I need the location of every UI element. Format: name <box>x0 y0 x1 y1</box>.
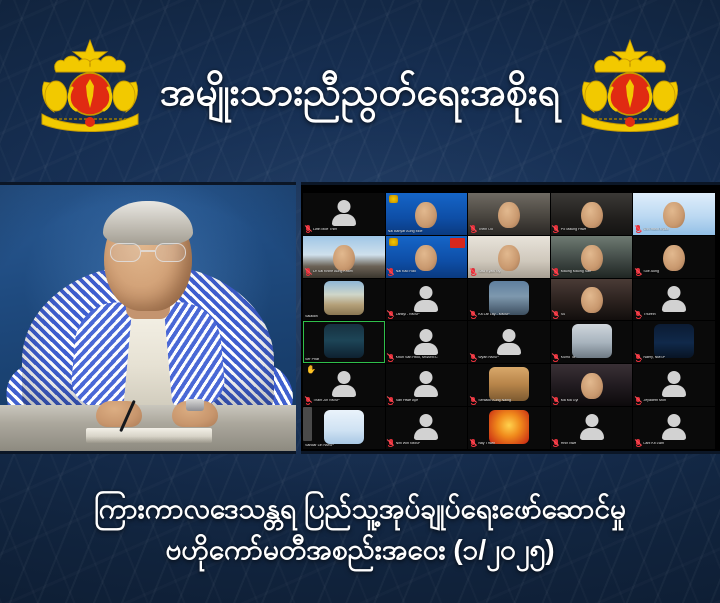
participant-tile[interactable]: Hnin Nwe <box>551 407 633 449</box>
participant-nameplate: Khun San Htoo, MNAREC <box>388 354 438 362</box>
mic-muted-icon <box>635 268 641 276</box>
participant-tile[interactable]: Kumo Ta <box>551 321 633 363</box>
participant-nameplate: Po Maung Htwe <box>553 225 587 233</box>
participant-tile[interactable]: Sehlado Aung Naing <box>468 364 550 406</box>
participant-tile[interactable]: Maung Maung San <box>551 236 633 278</box>
participant-nameplate: Su <box>553 311 565 319</box>
participant-nameplate: Nai Kao Rao <box>388 268 416 276</box>
participant-tile[interactable]: Ma Ma Gyi <box>551 364 633 406</box>
participant-nameplate: Kumo Ta <box>553 354 575 362</box>
participant-name: Hnin Nwe <box>561 442 577 446</box>
myanmar-state-seal-right-icon <box>576 38 684 134</box>
mic-muted-icon <box>470 439 476 447</box>
participant-face <box>663 245 685 271</box>
participant-name: Sehlado Aung Naing <box>478 399 511 403</box>
participant-tile[interactable]: Po Maung Htwe <box>551 193 633 235</box>
participant-name: Nini Win NMSP <box>396 442 421 446</box>
participant-name: Nai Kao Rao <box>396 270 416 274</box>
participant-name: San Htwe Aye <box>396 399 419 403</box>
participant-name: Wyan NMSP <box>478 356 499 360</box>
participant-name: Su <box>561 313 565 317</box>
participant-nameplate: Thant Zin NMSP <box>305 397 340 405</box>
mic-muted-icon <box>305 268 311 276</box>
participant-tile[interactable]: Lwin Moe Thint <box>303 193 385 235</box>
participant-name: Nay Thwin <box>478 442 495 446</box>
participant-face <box>415 202 437 228</box>
participant-face <box>498 245 520 271</box>
default-avatar-icon <box>659 414 689 440</box>
participant-nameplate: Lant Kit Lwin <box>635 439 664 447</box>
participant-tile[interactable]: Dr Sai Khine Aung Kham <box>303 236 385 278</box>
participant-face <box>581 202 603 228</box>
default-avatar-icon <box>659 286 689 312</box>
default-avatar-icon <box>411 286 441 312</box>
participant-face <box>581 373 603 399</box>
participant-face <box>415 245 437 271</box>
participant-nameplate: Saw Kyaw Nyi <box>470 268 501 276</box>
mic-muted-icon <box>553 268 559 276</box>
participant-nameplate: Lwin Moe Thint <box>305 225 337 233</box>
speaker-writing-hand <box>96 401 142 427</box>
participant-nameplate: Maung Maung San <box>553 268 591 276</box>
mic-muted-icon <box>388 439 394 447</box>
participant-tile[interactable]: Nai Banyar Aung Moe <box>386 193 468 235</box>
mic-muted-icon <box>305 225 311 233</box>
participant-tile[interactable]: Sandar Lin NMSP <box>303 407 385 449</box>
virtual-background-seal-icon <box>389 195 398 203</box>
participant-profile-image <box>324 281 364 315</box>
participant-nameplate: Sehlado Aung Naing <box>470 397 511 405</box>
participant-name: Khun San Htoo, MNAREC <box>396 356 438 360</box>
speaker-glasses <box>110 243 186 263</box>
mic-muted-icon <box>305 397 311 405</box>
participant-name: Naery, NMSP <box>643 356 665 360</box>
mic-muted-icon <box>553 439 559 447</box>
participant-tile[interactable]: Nay Thwin <box>468 407 550 449</box>
default-avatar-icon <box>411 329 441 355</box>
raise-hand-reaction-icon: ✋ <box>306 366 316 374</box>
zoom-gallery-grid[interactable]: Lwin Moe ThintNai Banyar Aung MoeThein O… <box>303 193 715 449</box>
participant-tile[interactable]: Ser Phar <box>303 321 385 363</box>
page-title: အမျိုးသားညီညွတ်ရေးအစိုးရ <box>160 72 560 115</box>
participant-name: Sandar Lin NMSP <box>305 444 334 448</box>
participant-profile-image <box>572 324 612 358</box>
participant-tile[interactable]: ✋Thant Zin NMSP <box>303 364 385 406</box>
participant-tile[interactable]: Ka Lar Lay - MMSP <box>468 279 550 321</box>
participant-name: Win Htein Kyaw <box>643 228 668 232</box>
default-avatar-icon <box>411 371 441 397</box>
default-avatar-icon <box>659 371 689 397</box>
participant-tile[interactable]: Jeyadeth Mon <box>633 364 715 406</box>
mic-muted-icon <box>635 311 641 319</box>
poster-canvas: အမျိုးသားညီညွတ်ရေးအစိုးရ <box>0 0 720 603</box>
participant-tile[interactable]: Salaidin <box>303 279 385 321</box>
participant-nameplate: Ka Lar Lay - MMSP <box>470 311 509 319</box>
wristwatch <box>186 399 204 411</box>
participant-name: Dr Sai Khine Aung Kham <box>313 270 353 274</box>
mic-muted-icon <box>635 397 641 405</box>
participant-tile[interactable]: Lahkyi - NMSP <box>386 279 468 321</box>
media-band: Lwin Moe ThintNai Banyar Aung MoeThein O… <box>0 182 720 454</box>
participant-face <box>581 245 603 271</box>
participant-nameplate: Lahkyi - NMSP <box>388 311 420 319</box>
participant-name: Lant Kit Lwin <box>643 442 664 446</box>
default-avatar-icon <box>494 329 524 355</box>
participant-name: Nai Banyar Aung Moe <box>388 230 423 234</box>
participant-nameplate: Nini Win NMSP <box>388 439 421 447</box>
participant-tile[interactable]: Saw Kyaw Nyi <box>468 236 550 278</box>
participant-nameplate: Nay Thwin <box>470 439 495 447</box>
speaker-portrait-photo <box>0 182 296 454</box>
mic-muted-icon <box>553 311 559 319</box>
poster-caption: ကြားကာလဒေသန္တရ ပြည်သူ့အုပ်ချုပ်ရေးဖော်ဆေ… <box>0 456 720 603</box>
participant-name: Thant Zin NMSP <box>313 399 340 403</box>
mic-muted-icon <box>553 225 559 233</box>
mic-muted-icon <box>388 354 394 362</box>
participant-tile[interactable]: Win Htein Kyaw <box>633 193 715 235</box>
participant-nameplate: Soe Aung <box>635 268 659 276</box>
participant-name: Ma Ma Gyi <box>561 399 578 403</box>
default-avatar-icon <box>577 414 607 440</box>
participant-nameplate: Win Htein Kyaw <box>635 225 668 233</box>
participant-tile[interactable]: Wyan NMSP <box>468 321 550 363</box>
participant-tile[interactable]: Su <box>551 279 633 321</box>
caption-line-2: ဗဟိုကော်မတီအစည်းအဝေး (၁/၂၀၂၅) <box>165 533 554 567</box>
mic-muted-icon <box>635 354 641 362</box>
participant-nameplate: Thein Oo <box>470 225 493 233</box>
caption-line-1: ကြားကာလဒေသန္တရ ပြည်သူ့အုပ်ချုပ်ရေးဖော်ဆေ… <box>94 492 626 526</box>
participant-tile[interactable]: Naery, NMSP <box>633 321 715 363</box>
participant-tile[interactable]: Soe Aung <box>633 236 715 278</box>
default-avatar-icon <box>329 371 359 397</box>
participant-nameplate: Thurein <box>635 311 655 319</box>
participant-profile-image <box>324 324 364 358</box>
notepad <box>86 428 212 443</box>
participant-tile[interactable]: Lant Kit Lwin <box>633 407 715 449</box>
poster-header: အမျိုးသားညီညွတ်ရေးအစိုးရ <box>0 0 720 180</box>
participant-nameplate: Sandar Lin NMSP <box>305 444 334 448</box>
participant-tile[interactable]: Thurein <box>633 279 715 321</box>
mic-muted-icon <box>635 225 641 233</box>
participant-nameplate: San Htwe Aye <box>388 397 419 405</box>
participant-name: Soe Aung <box>643 270 659 274</box>
participant-tile[interactable]: Khun San Htoo, MNAREC <box>386 321 468 363</box>
participant-tile[interactable]: San Htwe Aye <box>386 364 468 406</box>
participant-nameplate: Jeyadeth Mon <box>635 397 666 405</box>
participant-tile[interactable]: Nini Win NMSP <box>386 407 468 449</box>
participant-nameplate: Ma Ma Gyi <box>553 397 578 405</box>
mic-muted-icon <box>470 311 476 319</box>
participant-name: Lahkyi - NMSP <box>396 313 420 317</box>
default-avatar-icon <box>411 414 441 440</box>
mic-muted-icon <box>388 268 394 276</box>
mic-muted-icon <box>470 268 476 276</box>
gallery-scrollbar-thumb[interactable] <box>303 407 312 441</box>
flag-graphic <box>450 238 465 248</box>
participant-face <box>498 202 520 228</box>
participant-name: Thein Oo <box>478 228 493 232</box>
participant-face <box>333 245 355 271</box>
participant-name: Kumo Ta <box>561 356 575 360</box>
virtual-background-seal-icon <box>389 238 398 246</box>
mic-muted-icon <box>388 311 394 319</box>
participant-nameplate: Wyan NMSP <box>470 354 499 362</box>
participant-face <box>663 202 685 228</box>
default-avatar-icon <box>329 200 359 226</box>
zoom-gallery-panel: Lwin Moe ThintNai Banyar Aung MoeThein O… <box>301 182 720 454</box>
participant-nameplate: Dr Sai Khine Aung Kham <box>305 268 353 276</box>
participant-face <box>581 287 603 313</box>
mic-muted-icon <box>553 397 559 405</box>
myanmar-state-seal-left-icon <box>36 38 144 134</box>
participant-nameplate: Hnin Nwe <box>553 439 577 447</box>
participant-name: Po Maung Htwe <box>561 228 587 232</box>
mic-muted-icon <box>388 397 394 405</box>
participant-nameplate: Salaidin <box>305 315 318 319</box>
participant-name: Ser Phar <box>305 358 319 362</box>
mic-muted-icon <box>470 354 476 362</box>
participant-nameplate: Ser Phar <box>305 358 319 362</box>
participant-name: Salaidin <box>305 315 318 319</box>
participant-name: Saw Kyaw Nyi <box>478 270 501 274</box>
mic-muted-icon <box>470 225 476 233</box>
participant-name: Maung Maung San <box>561 270 591 274</box>
participant-name: Thurein <box>643 313 655 317</box>
participant-tile[interactable]: Nai Kao Rao <box>386 236 468 278</box>
mic-muted-icon <box>470 397 476 405</box>
participant-name: Jeyadeth Mon <box>643 399 666 403</box>
participant-nameplate: Nai Banyar Aung Moe <box>388 230 423 234</box>
mic-muted-icon <box>635 439 641 447</box>
participant-tile[interactable]: Thein Oo <box>468 193 550 235</box>
mic-muted-icon <box>553 354 559 362</box>
participant-profile-image <box>324 410 364 444</box>
participant-name: Ka Lar Lay - MMSP <box>478 313 509 317</box>
participant-name: Lwin Moe Thint <box>313 228 337 232</box>
participant-nameplate: Naery, NMSP <box>635 354 665 362</box>
